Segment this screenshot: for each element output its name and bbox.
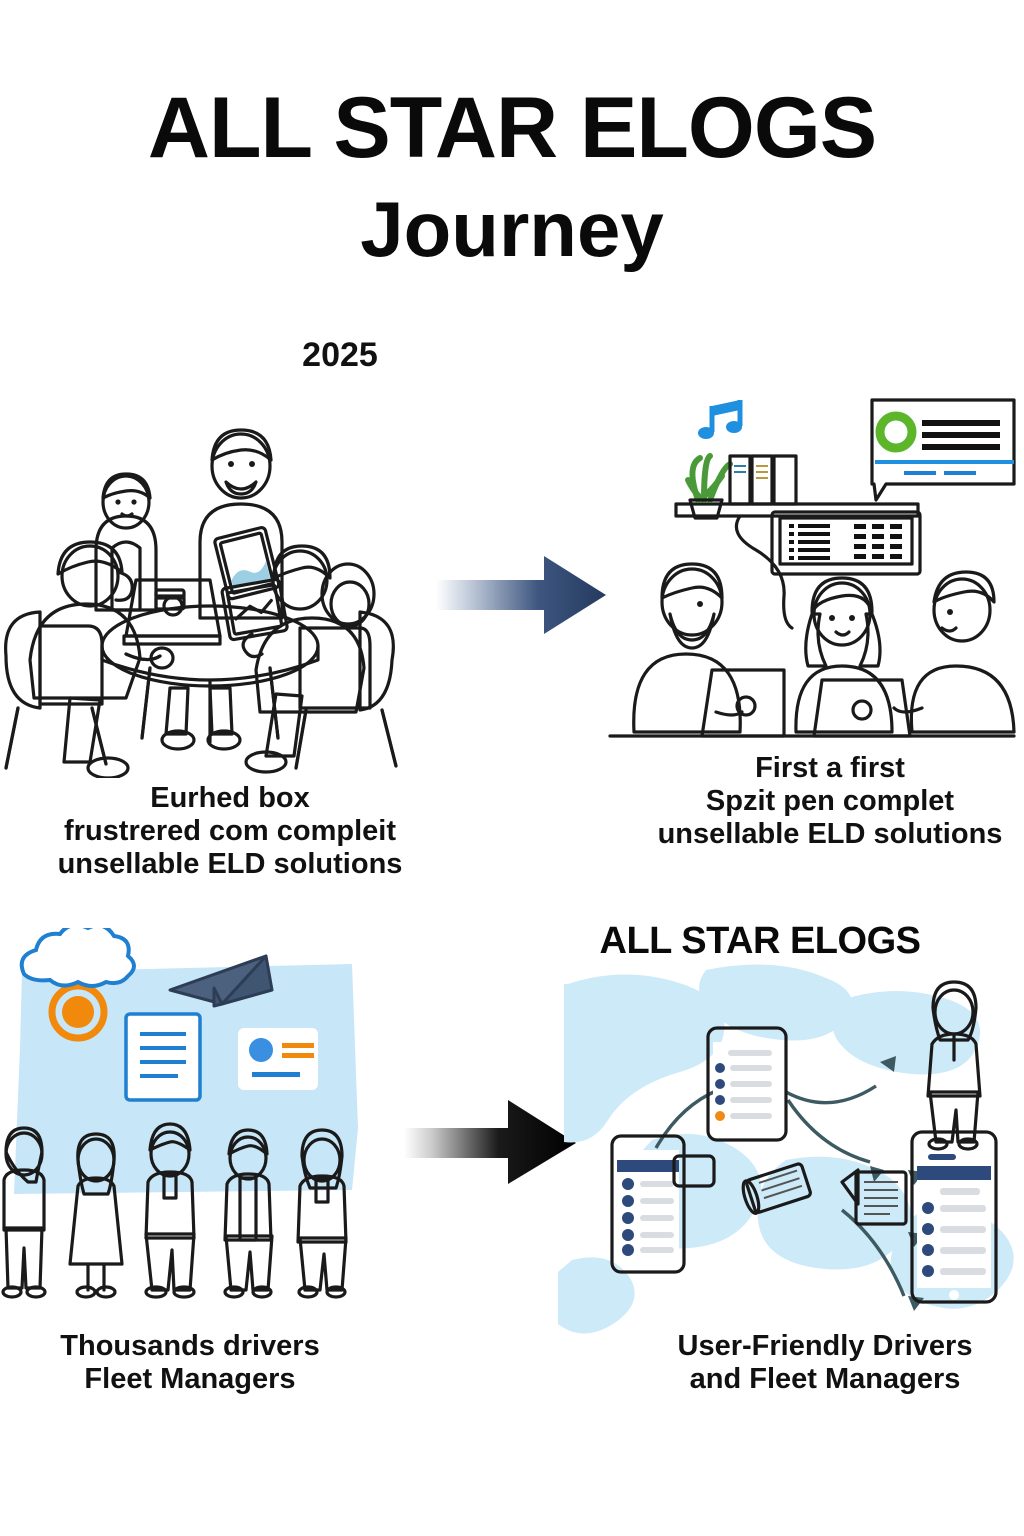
person-blue-sweater: [634, 564, 742, 732]
page-subtitle: Journey: [0, 190, 1024, 268]
brand-heading: ALL STAR ELOGS: [530, 920, 990, 963]
caption-line: Fleet Managers: [0, 1363, 390, 1396]
wall-shelf: [676, 456, 918, 518]
caption-line: unsellable ELD solutions: [10, 848, 450, 881]
music-note-icon: [698, 400, 742, 439]
person-seated-red: [6, 542, 173, 778]
drivers-illustration: [3, 928, 358, 1297]
person-green-sweater: [894, 572, 1014, 732]
page-title: ALL STAR ELOGS: [0, 85, 1024, 171]
cloud-icon: [22, 928, 134, 986]
caption-line: First a first: [640, 752, 1020, 785]
laptop-left: [702, 670, 784, 736]
phone-top: [708, 1028, 786, 1140]
caption-app: User-Friendly Drivers and Fleet Managers: [630, 1330, 1020, 1396]
person-red-shirt: [796, 578, 892, 732]
caption-line: User-Friendly Drivers: [630, 1330, 1020, 1363]
arrow-right-bottom: [400, 1088, 580, 1198]
caption-office: First a first Spzit pen complet unsellab…: [640, 752, 1020, 850]
panel-app: [556, 960, 1024, 1380]
arrow-right-top: [432, 540, 612, 650]
caption-line: unsellable ELD solutions: [640, 818, 1020, 851]
app-illustration: [558, 965, 1014, 1334]
document-card: [126, 1014, 200, 1100]
meeting-illustration: [6, 430, 396, 778]
office-illustration: [610, 400, 1014, 736]
caption-line: and Fleet Managers: [630, 1363, 1020, 1396]
person-green-cardigan: [96, 474, 184, 610]
panel-drivers: [0, 928, 380, 1328]
under-table-legs: [162, 688, 240, 749]
notification-bubble: [872, 400, 1014, 500]
caption-drivers: Thousands drivers Fleet Managers: [0, 1330, 390, 1396]
phone-right: [912, 1132, 996, 1302]
caption-meeting: Eurhed box frustrered com compleit unsel…: [10, 782, 450, 880]
panel-meeting: [0, 398, 420, 778]
wall-monitor: [736, 512, 920, 628]
caption-line: Spzit pen complet: [640, 785, 1020, 818]
panel-office: [600, 388, 1024, 748]
year-label: 2025: [240, 336, 440, 375]
caption-line: Thousands drivers: [0, 1330, 390, 1363]
caption-line: frustrered com compleit: [10, 815, 450, 848]
info-card: [238, 1028, 318, 1090]
potted-plant: [688, 456, 730, 518]
caption-line: Eurhed box: [10, 782, 450, 815]
